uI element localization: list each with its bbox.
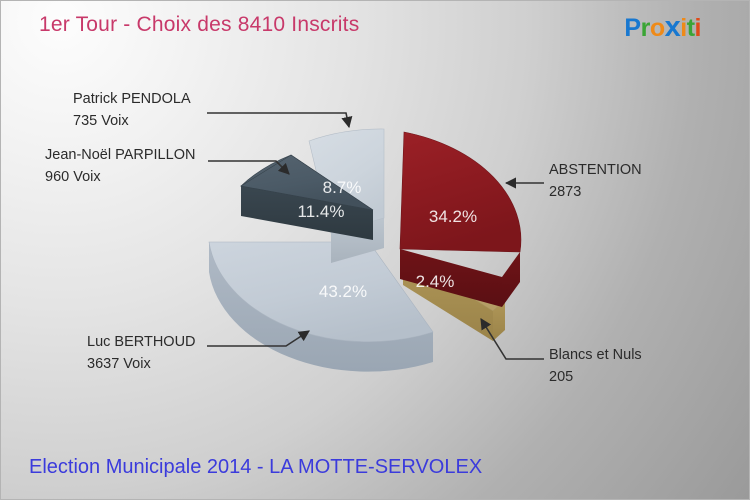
callout-parpillon-label: Jean-Noël PARPILLON <box>45 147 195 163</box>
callout-blancs-value: 205 <box>549 367 642 389</box>
callout-berthoud: Luc BERTHOUD 3637 Voix <box>87 332 196 376</box>
callout-blancs-label: Blancs et Nuls <box>549 347 642 363</box>
pie-slice-berthoud[interactable] <box>209 242 433 372</box>
pct-label-pendola: 8.7% <box>323 178 362 197</box>
pie-chart-3d: 8.7% 11.4% 34.2% 2.4% 43.2% <box>1 1 750 501</box>
pct-label-blancs: 2.4% <box>416 272 455 291</box>
callout-abstention-label: ABSTENTION <box>549 162 642 178</box>
pct-label-parpillon: 11.4% <box>298 202 345 221</box>
callout-pendola-label: Patrick PENDOLA <box>73 91 191 107</box>
pct-label-berthoud: 43.2% <box>319 282 367 301</box>
callout-pendola: Patrick PENDOLA 735 Voix <box>73 89 191 133</box>
pie-slice-abstention-top <box>400 132 521 252</box>
callout-parpillon-value: 960 Voix <box>45 167 195 189</box>
leader-line-pendola <box>207 113 349 127</box>
pct-label-abstention: 34.2% <box>429 207 477 226</box>
chart-canvas: 1er Tour - Choix des 8410 Inscrits Proxi… <box>0 0 750 500</box>
callout-pendola-value: 735 Voix <box>73 111 191 133</box>
chart-caption: Election Municipale 2014 - LA MOTTE-SERV… <box>29 456 482 479</box>
callout-parpillon: Jean-Noël PARPILLON 960 Voix <box>45 145 195 189</box>
callout-berthoud-value: 3637 Voix <box>87 354 196 376</box>
pie-slice-abstention-side2 <box>502 252 520 307</box>
callout-abstention: ABSTENTION 2873 <box>549 160 642 204</box>
callout-berthoud-label: Luc BERTHOUD <box>87 334 196 350</box>
callout-abstention-value: 2873 <box>549 182 642 204</box>
callout-blancs: Blancs et Nuls 205 <box>549 345 642 389</box>
